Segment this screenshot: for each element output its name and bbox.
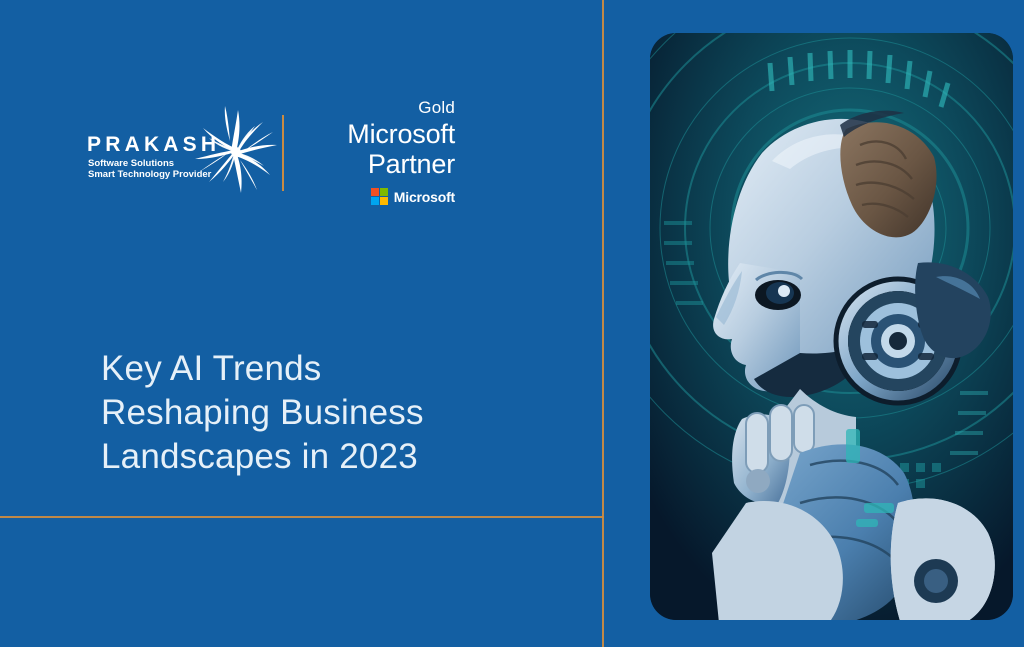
microsoft-squares-icon xyxy=(371,188,388,205)
partner-level: Gold xyxy=(307,97,455,119)
plus-marker-left xyxy=(624,80,666,122)
partner-line-1: Microsoft xyxy=(307,119,455,149)
hero-image xyxy=(650,33,1013,620)
headline-line-3: Landscapes in 2023 xyxy=(101,435,571,479)
headline-line-1: Key AI Trends xyxy=(101,347,571,391)
promo-banner: PRAKASH Software Solutions Smart Technol… xyxy=(0,0,1024,647)
prakash-logo: PRAKASH Software Solutions Smart Technol… xyxy=(85,98,285,208)
page-title: Key AI Trends Reshaping Business Landsca… xyxy=(101,347,571,479)
microsoft-logo: Microsoft xyxy=(307,188,455,205)
sunburst-icon xyxy=(181,96,291,208)
microsoft-wordmark: Microsoft xyxy=(394,189,455,205)
vertical-accent-rule xyxy=(602,0,604,647)
logo-lockup: PRAKASH Software Solutions Smart Technol… xyxy=(85,95,445,210)
partner-line-2: Partner xyxy=(307,149,455,179)
left-content-column: PRAKASH Software Solutions Smart Technol… xyxy=(0,0,602,647)
logo-divider xyxy=(282,115,284,191)
microsoft-partner-badge: Gold Microsoft Partner Microsoft xyxy=(307,97,455,209)
plus-marker-bottom xyxy=(815,588,859,632)
headline-line-2: Reshaping Business xyxy=(101,391,571,435)
